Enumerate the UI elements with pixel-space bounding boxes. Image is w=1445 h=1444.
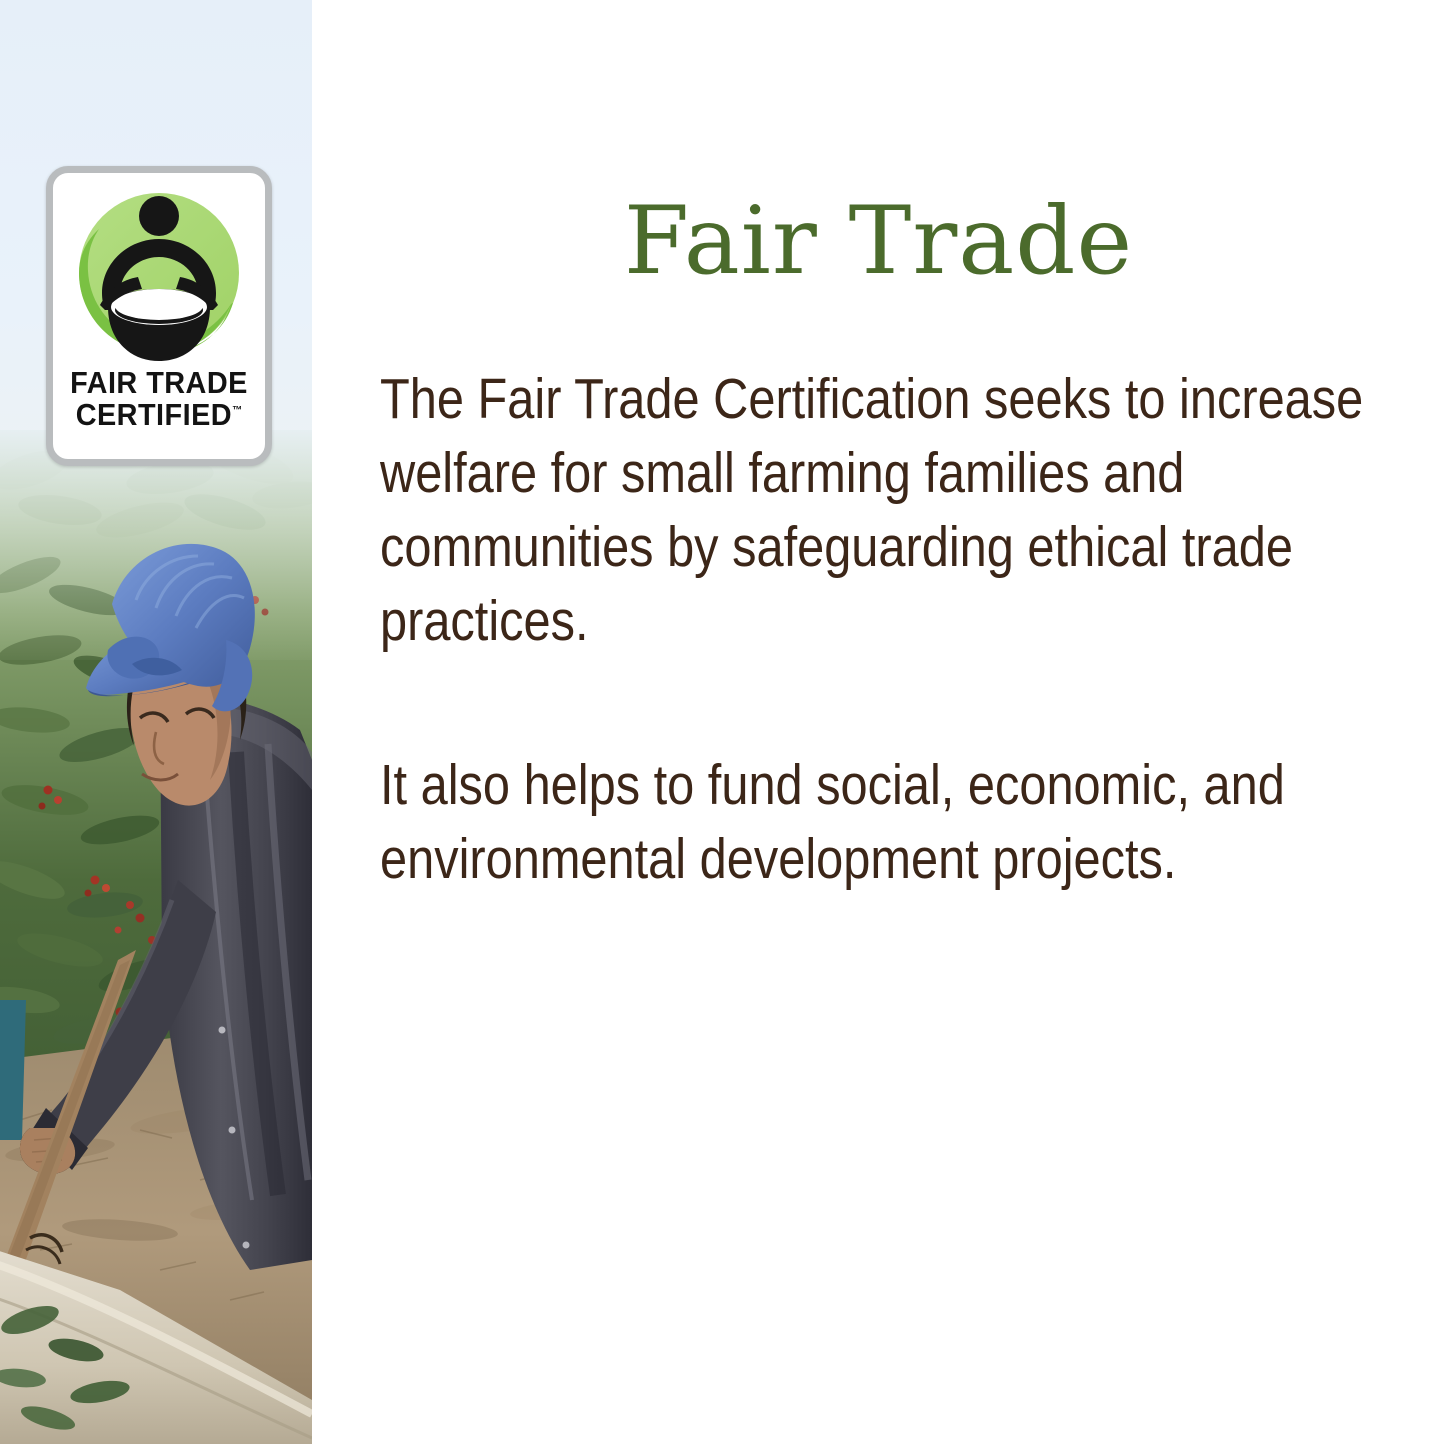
body-text-block: The Fair Trade Certification seeks to in… <box>380 362 1380 896</box>
content-panel: Fair Trade The Fair Trade Certification … <box>312 0 1445 1444</box>
page-title: Fair Trade <box>312 195 1445 289</box>
fair-trade-wordmark: FAIR TRADE CERTIFIED™ <box>53 367 265 430</box>
coffee-farmer-photo: FAIR TRADE CERTIFIED™ <box>0 0 312 1444</box>
paragraph-1: The Fair Trade Certification seeks to in… <box>380 362 1372 658</box>
fair-trade-infographic-page: FAIR TRADE CERTIFIED™ Fair Trade The Fai… <box>0 0 1445 1444</box>
trademark-symbol: ™ <box>232 404 242 416</box>
logo-line-2: CERTIFIED™ <box>60 399 257 431</box>
paragraph-2: It also helps to fund social, economic, … <box>380 748 1372 896</box>
fair-trade-certified-logo: FAIR TRADE CERTIFIED™ <box>46 166 272 466</box>
logo-line-1: FAIR TRADE <box>60 367 257 399</box>
fair-trade-figure-icon <box>64 181 254 371</box>
